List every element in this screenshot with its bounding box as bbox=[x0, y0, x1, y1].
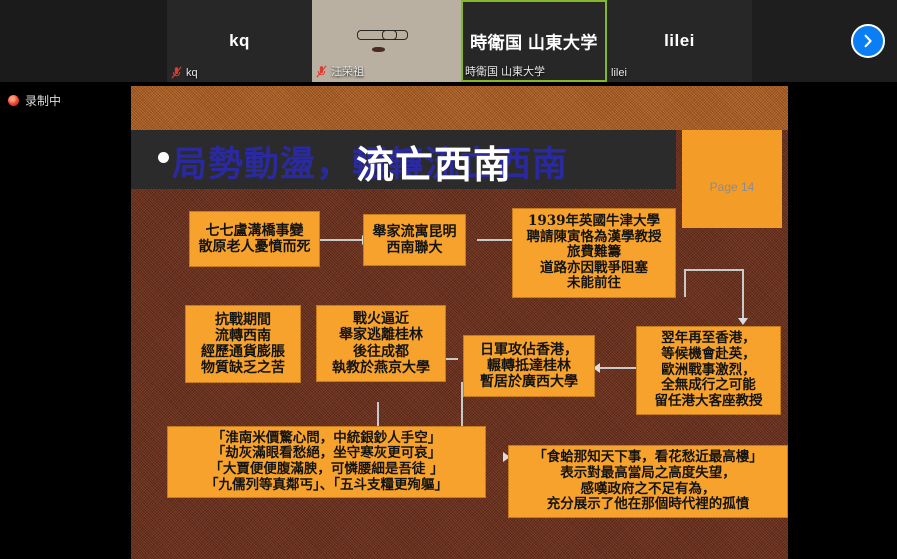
glasses-detail-2 bbox=[382, 30, 408, 40]
flow-node-6-line-2: 舉家逃離桂林 bbox=[339, 327, 423, 343]
participant-footer: lilei bbox=[611, 67, 627, 79]
flow-node-7-line-3: 經歷通貨膨脹 bbox=[201, 344, 285, 360]
slide-page-panel: Page 14 bbox=[682, 130, 782, 228]
next-page-button[interactable] bbox=[851, 24, 885, 58]
flow-node-3-line-3: 旅費難籌 bbox=[567, 245, 621, 261]
recording-dot-icon bbox=[8, 95, 19, 106]
connector-n3-n4-h bbox=[684, 269, 744, 271]
mouth-detail bbox=[372, 47, 385, 53]
participant-footer-name: 汪荣祖 bbox=[331, 63, 364, 79]
connector-n2-n3 bbox=[477, 239, 517, 241]
flow-node-1-line-2: 散原老人憂憤而死 bbox=[199, 239, 311, 255]
participant-footer: 時衛国 山東大学 bbox=[465, 63, 545, 79]
participant-filmstrip: kq kq bbox=[0, 0, 897, 82]
flow-node-7-line-2: 流轉西南 bbox=[215, 328, 271, 344]
shared-screen-stage: 局勢動盪，輾轉流亡西南 流亡西南 Page 14 bbox=[0, 82, 897, 559]
flow-node-6-line-1: 戰火逼近 bbox=[353, 311, 409, 327]
flow-node-6-line-4: 執教於燕京大學 bbox=[332, 360, 430, 376]
flow-node-6[interactable]: 戰火逼近 舉家逃離桂林 後往成都 執教於燕京大學 bbox=[316, 305, 446, 382]
connector-n3-n4-v2 bbox=[742, 269, 744, 321]
flow-node-8-line-1: 「淮南米價驚心問，中統銀鈔人手空」 bbox=[212, 431, 442, 447]
slide-title: 局勢動盪，輾轉流亡西南 流亡西南 bbox=[158, 132, 678, 188]
zoom-meeting-window: kq kq bbox=[0, 0, 897, 559]
mic-muted-icon bbox=[171, 66, 182, 79]
flow-node-9-line-1: 「食蛤那知天下事，看花愁近最高樓」 bbox=[533, 450, 763, 466]
flow-node-4-line-4: 全無成行之可能 bbox=[661, 378, 756, 394]
flow-node-9-line-2: 表示對最高當局之高度失望， bbox=[560, 466, 736, 482]
participant-tile-lilei[interactable]: lilei lilei bbox=[607, 0, 752, 82]
flow-node-3-line-1: 1939年英國牛津大學 bbox=[528, 214, 660, 230]
participant-footer-name: lilei bbox=[611, 67, 627, 79]
participant-tile-shiweiguo[interactable]: 時衛国 山東大学 時衛国 山東大学 bbox=[461, 0, 607, 82]
flow-node-5-line-3: 暫居於廣西大學 bbox=[480, 374, 578, 390]
flow-node-1-line-1: 七七盧溝橋事變 bbox=[206, 223, 304, 239]
flow-node-5[interactable]: 日軍攻佔香港， 輾轉抵達桂林 暫居於廣西大學 bbox=[463, 335, 595, 397]
flow-node-3-line-2: 聘請陳寅恪為漢學教授 bbox=[527, 230, 662, 246]
presentation-slide: 局勢動盪，輾轉流亡西南 流亡西南 Page 14 bbox=[131, 86, 788, 559]
flow-node-9-line-3: 感嘆政府之不足有為， bbox=[581, 482, 716, 498]
flow-node-4-line-2: 等候機會赴英， bbox=[661, 347, 756, 363]
arrow-n3-n4 bbox=[738, 318, 748, 325]
page-number-label: Page 14 bbox=[710, 180, 755, 194]
filmstrip-pager-area bbox=[752, 0, 897, 82]
flow-node-4-line-1: 翌年再至香港， bbox=[661, 331, 756, 347]
flow-node-8-line-4: 「九儒列等真鄰丐」、「五斗支糧更殉軀」 bbox=[205, 478, 448, 494]
flow-node-2[interactable]: 舉家流寓昆明 西南聯大 bbox=[363, 214, 466, 266]
flow-node-5-line-2: 輾轉抵達桂林 bbox=[487, 358, 571, 374]
flow-node-7[interactable]: 抗戰期間 流轉西南 經歷通貨膨脹 物質缺乏之苦 bbox=[185, 305, 301, 383]
flow-node-9[interactable]: 「食蛤那知天下事，看花愁近最高樓」 表示對最高當局之高度失望， 感嘆政府之不足有… bbox=[508, 445, 788, 518]
flow-node-3-line-5: 未能前往 bbox=[567, 276, 621, 292]
flow-node-9-line-4: 充分展示了他在那個時代裡的孤憤 bbox=[547, 497, 750, 513]
participant-display-name: kq bbox=[167, 31, 312, 51]
participant-display-name: lilei bbox=[607, 31, 752, 51]
flow-node-1[interactable]: 七七盧溝橋事變 散原老人憂憤而死 bbox=[189, 211, 320, 267]
flow-node-3[interactable]: 1939年英國牛津大學 聘請陳寅恪為漢學教授 旅費難籌 道路亦因戰爭阻塞 未能前… bbox=[512, 208, 676, 298]
flow-node-8[interactable]: 「淮南米價驚心問，中統銀鈔人手空」 「劫灰滿眼看愁絕，坐守寒灰更可哀」 「大賈便… bbox=[167, 426, 486, 498]
flow-node-7-line-4: 物質缺乏之苦 bbox=[201, 360, 285, 376]
flow-node-5-line-1: 日軍攻佔香港， bbox=[480, 342, 578, 358]
flow-node-7-line-1: 抗戰期間 bbox=[215, 312, 271, 328]
connector-n1-n2 bbox=[320, 239, 364, 241]
participant-tile-wangrongzu[interactable]: 汪荣祖 bbox=[312, 0, 461, 82]
flow-node-6-line-3: 後往成都 bbox=[353, 344, 409, 360]
bullet-icon bbox=[158, 152, 169, 163]
flow-node-4-line-5: 留任港大客座教授 bbox=[655, 394, 763, 410]
recording-indicator[interactable]: 录制中 bbox=[8, 92, 61, 109]
recording-label: 录制中 bbox=[25, 92, 61, 109]
flow-node-8-line-3: 「大賈便便腹滿腴，可憐腰細是吾徒 」 bbox=[209, 462, 443, 478]
flow-node-4[interactable]: 翌年再至香港， 等候機會赴英， 歐洲戰事激烈， 全無成行之可能 留任港大客座教授 bbox=[636, 326, 781, 415]
flow-node-2-line-1: 舉家流寓昆明 bbox=[373, 224, 457, 240]
mic-muted-icon bbox=[316, 65, 327, 78]
slide-top-band bbox=[131, 86, 788, 130]
flow-node-4-line-3: 歐洲戰事激烈， bbox=[661, 363, 756, 379]
participant-display-name: 時衛国 山東大学 bbox=[461, 29, 607, 54]
slide-title-foreground-text: 流亡西南 bbox=[356, 134, 512, 189]
participant-footer-name: 時衛国 山東大学 bbox=[465, 63, 545, 79]
chevron-right-icon bbox=[861, 34, 875, 48]
participant-tile-kq[interactable]: kq kq bbox=[167, 0, 312, 82]
connector-n3-n4-v1 bbox=[684, 269, 686, 297]
flow-node-8-line-2: 「劫灰滿眼看愁絕，坐守寒灰更可哀」 bbox=[212, 446, 442, 462]
participant-footer: kq bbox=[171, 66, 198, 79]
flow-node-2-line-2: 西南聯大 bbox=[387, 240, 443, 256]
participant-footer-name: kq bbox=[186, 67, 198, 79]
participant-footer: 汪荣祖 bbox=[316, 63, 364, 79]
